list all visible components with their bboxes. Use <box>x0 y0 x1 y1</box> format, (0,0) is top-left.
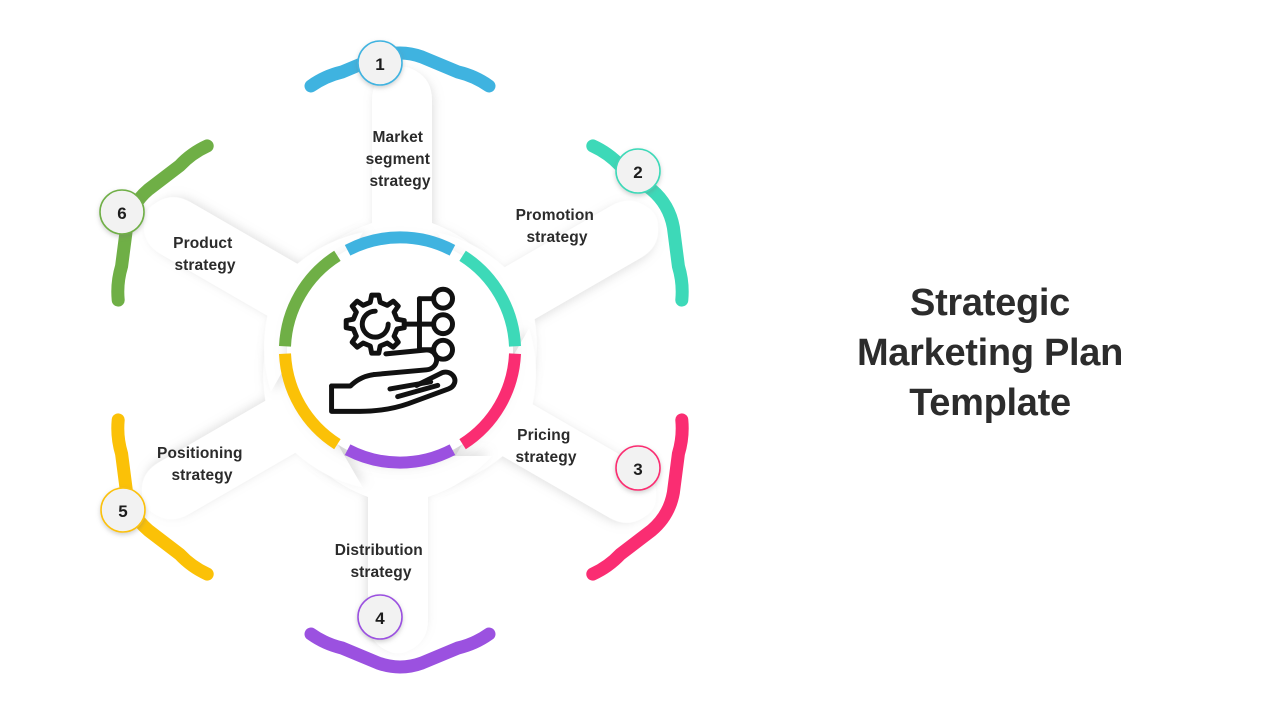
center-hub[interactable] <box>285 237 515 463</box>
petal-1-label-line-2: segment <box>366 151 430 168</box>
petal-1-badge-number: 1 <box>375 55 384 74</box>
petal-1[interactable]: Market segment strategy 1 <box>308 41 492 264</box>
petal-4-label-line-1: Distribution <box>335 542 423 559</box>
petal-4-label-line-2: strategy <box>350 564 411 581</box>
petal-4-badge[interactable]: 4 <box>358 595 402 639</box>
petal-2-label-line-2: strategy <box>526 229 587 246</box>
slide-canvas: Market segment strategy 1 Promotion stra… <box>0 0 1280 720</box>
diagram-svg: Market segment strategy 1 Promotion stra… <box>40 0 760 720</box>
title-line-3: Template <box>790 378 1190 428</box>
petal-3-label-line-1: Pricing <box>517 427 570 444</box>
petal-3-label-line-2: strategy <box>515 449 576 466</box>
strategy-flower-diagram: Market segment strategy 1 Promotion stra… <box>40 0 760 720</box>
petal-5-badge-number: 5 <box>118 502 127 521</box>
petal-6-badge[interactable]: 6 <box>100 190 144 234</box>
petal-4-badge-number: 4 <box>375 609 385 628</box>
petal-1-badge[interactable]: 1 <box>358 41 402 85</box>
petal-6-badge-number: 6 <box>117 204 126 223</box>
petal-5-label-line-1: Positioning <box>157 445 242 462</box>
petal-1-label-line-1: Market <box>373 129 424 146</box>
slide-title: Strategic Marketing Plan Template <box>790 278 1190 428</box>
petal-1-label: Market segment strategy <box>366 129 435 190</box>
title-line-2: Marketing Plan <box>790 328 1190 378</box>
petal-5-badge[interactable]: 5 <box>101 488 145 532</box>
petal-5-label-line-2: strategy <box>171 467 232 484</box>
petal-2-badge[interactable]: 2 <box>616 149 660 193</box>
title-line-1: Strategic <box>790 278 1190 328</box>
petal-3-badge-number: 3 <box>633 460 642 479</box>
petal-4[interactable]: Distribution strategy 4 <box>308 456 492 667</box>
petal-6-label-line-2: strategy <box>174 257 235 274</box>
petal-2-badge-number: 2 <box>633 163 642 182</box>
petal-1-label-line-3: strategy <box>369 173 430 190</box>
petal-6-label-line-1: Product <box>173 235 232 252</box>
petal-3-badge[interactable]: 3 <box>616 446 660 490</box>
petal-2-label-line-1: Promotion <box>516 207 594 224</box>
